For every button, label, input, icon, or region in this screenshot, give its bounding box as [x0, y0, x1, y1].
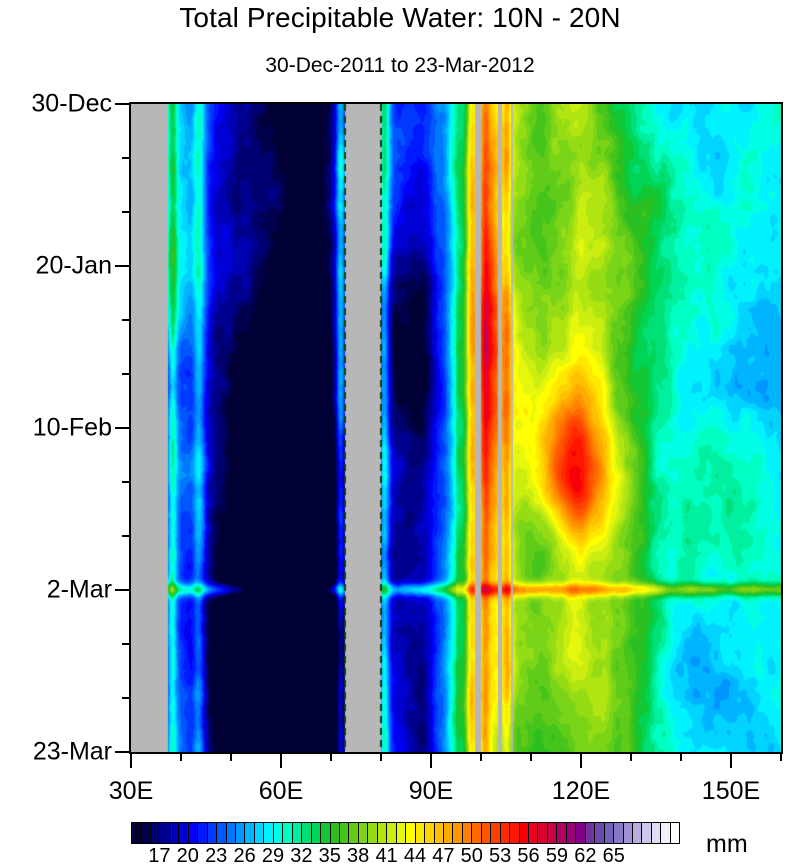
- colorbar-cell: [425, 823, 434, 843]
- x-tick-minor: [530, 752, 532, 761]
- colorbar-tick-label: 29: [262, 845, 284, 868]
- y-tick-minor: [122, 697, 131, 699]
- colorbar-cell: [567, 823, 576, 843]
- colorbar-tick-label: 65: [603, 845, 625, 868]
- x-tick-minor: [230, 752, 232, 761]
- colorbar-cell: [331, 823, 340, 843]
- colorbar-cell: [406, 823, 415, 843]
- x-axis-label: 90E: [409, 777, 453, 806]
- page-title: Total Precipitable Water: 10N - 20N: [0, 2, 800, 34]
- colorbar-tick-label: 17: [148, 845, 170, 868]
- colorbar-cell: [141, 823, 150, 843]
- y-axis-label: 10-Feb: [0, 414, 112, 443]
- colorbar-tick-label: 23: [205, 845, 227, 868]
- y-tick-major: [115, 427, 131, 429]
- x-tick-minor: [630, 752, 632, 761]
- colorbar-cell: [614, 823, 623, 843]
- x-tick-minor: [480, 752, 482, 761]
- colorbar-tick-label: 32: [290, 845, 312, 868]
- colorbar-cell: [189, 823, 198, 843]
- colorbar-cell: [198, 823, 207, 843]
- x-tick-minor: [180, 752, 182, 761]
- colorbar-cell: [548, 823, 557, 843]
- colorbar-cell: [283, 823, 292, 843]
- x-tick-major: [280, 752, 282, 768]
- x-tick-major: [430, 752, 432, 768]
- y-axis-label: 2-Mar: [0, 576, 112, 605]
- x-tick-major: [130, 752, 132, 768]
- colorbar-cell: [245, 823, 254, 843]
- colorbar-cell: [472, 823, 481, 843]
- x-tick-minor: [330, 752, 332, 761]
- colorbar-cell: [340, 823, 349, 843]
- colorbar-cell: [416, 823, 425, 843]
- colorbar-cell: [444, 823, 453, 843]
- colorbar-cell: [482, 823, 491, 843]
- colorbar-cell: [671, 823, 679, 843]
- y-tick-minor: [122, 535, 131, 537]
- x-axis-label: 120E: [552, 777, 610, 806]
- colorbar-cell: [264, 823, 273, 843]
- colorbar-tick-label: 44: [404, 845, 426, 868]
- colorbar-cell: [529, 823, 538, 843]
- y-tick-minor: [122, 211, 131, 213]
- colorbar-cell: [510, 823, 519, 843]
- colorbar-cell: [520, 823, 529, 843]
- chart-subtitle: 30-Dec-2011 to 23-Mar-2012: [0, 54, 800, 78]
- colorbar-tick-label: 59: [546, 845, 568, 868]
- colorbar-cell: [501, 823, 510, 843]
- colorbar-cell: [132, 823, 141, 843]
- colorbar-unit-label: mm: [706, 830, 748, 859]
- colorbar-tick-label: 26: [233, 845, 255, 868]
- y-axis-label: 30-Dec: [0, 90, 112, 119]
- colorbar-cell: [359, 823, 368, 843]
- colorbar: [131, 822, 680, 844]
- colorbar-tick-label: 56: [517, 845, 539, 868]
- colorbar-tick-label: 50: [461, 845, 483, 868]
- colorbar-tick-label: 62: [574, 845, 596, 868]
- colorbar-cell: [453, 823, 462, 843]
- colorbar-cell: [624, 823, 633, 843]
- colorbar-cell: [321, 823, 330, 843]
- x-axis-label: 30E: [109, 777, 153, 806]
- colorbar-cell: [642, 823, 651, 843]
- colorbar-cell: [312, 823, 321, 843]
- x-tick-major: [580, 752, 582, 768]
- y-tick-major: [115, 103, 131, 105]
- colorbar-tick-label: 53: [489, 845, 511, 868]
- colorbar-cell: [179, 823, 188, 843]
- colorbar-tick-label: 38: [347, 845, 369, 868]
- colorbar-cell: [170, 823, 179, 843]
- colorbar-cell: [652, 823, 661, 843]
- colorbar-tick-label: 47: [432, 845, 454, 868]
- colorbar-cell: [368, 823, 377, 843]
- x-axis-label: 60E: [259, 777, 303, 806]
- colorbar-cell: [208, 823, 217, 843]
- colorbar-cell: [633, 823, 642, 843]
- colorbar-tick-label: 35: [319, 845, 341, 868]
- colorbar-cell: [217, 823, 226, 843]
- heatmap-canvas: [131, 104, 781, 752]
- colorbar-cell: [397, 823, 406, 843]
- colorbar-cell: [160, 823, 169, 843]
- x-tick-minor: [680, 752, 682, 761]
- colorbar-cell: [387, 823, 396, 843]
- hovmoller-plot-area: [129, 102, 783, 754]
- colorbar-cell: [576, 823, 585, 843]
- y-tick-major: [115, 751, 131, 753]
- colorbar-cell: [605, 823, 614, 843]
- colorbar-cell: [586, 823, 595, 843]
- colorbar-cell: [661, 823, 670, 843]
- y-tick-major: [115, 589, 131, 591]
- y-tick-major: [115, 265, 131, 267]
- colorbar-cell: [491, 823, 500, 843]
- colorbar-cell: [236, 823, 245, 843]
- colorbar-cell: [435, 823, 444, 843]
- figure-root: Total Precipitable Water: 10N - 20N 30-D…: [0, 0, 800, 866]
- x-axis-label: 150E: [702, 777, 760, 806]
- y-tick-minor: [122, 373, 131, 375]
- colorbar-cell: [255, 823, 264, 843]
- colorbar-cell: [378, 823, 387, 843]
- colorbar-cell: [227, 823, 236, 843]
- colorbar-cell: [302, 823, 311, 843]
- colorbar-tick-label: 20: [177, 845, 199, 868]
- y-tick-minor: [122, 319, 131, 321]
- y-tick-minor: [122, 643, 131, 645]
- colorbar-cell: [538, 823, 547, 843]
- x-tick-minor: [780, 752, 782, 761]
- colorbar-cell: [557, 823, 566, 843]
- colorbar-cell: [151, 823, 160, 843]
- colorbar-cell: [595, 823, 604, 843]
- colorbar-cell: [274, 823, 283, 843]
- y-tick-minor: [122, 481, 131, 483]
- y-axis-label: 20-Jan: [0, 252, 112, 281]
- colorbar-cell: [463, 823, 472, 843]
- colorbar-tick-label: 41: [375, 845, 397, 868]
- x-tick-major: [730, 752, 732, 768]
- y-axis-label: 23-Mar: [0, 738, 112, 767]
- x-tick-minor: [380, 752, 382, 761]
- y-tick-minor: [122, 157, 131, 159]
- colorbar-cell: [293, 823, 302, 843]
- colorbar-cell: [349, 823, 358, 843]
